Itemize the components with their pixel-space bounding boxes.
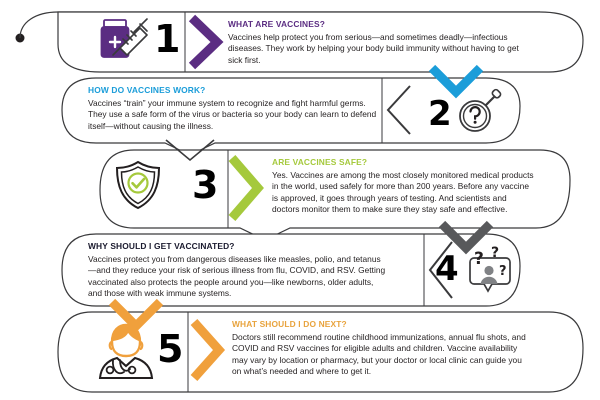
step-title-1: WHAT ARE VACCINES? bbox=[228, 19, 528, 30]
step-body-2: Vaccines “train” your immune system to r… bbox=[88, 98, 378, 133]
step-title-5: WHAT SHOULD I DO NEXT? bbox=[232, 319, 528, 330]
doctor-stethoscope-icon bbox=[96, 320, 156, 382]
step-body-3: Yes. Vaccines are among the most closely… bbox=[272, 170, 534, 216]
step-number-3: 3 bbox=[192, 166, 218, 204]
step-number-2: 2 bbox=[428, 95, 452, 133]
svg-text:?: ? bbox=[491, 246, 499, 261]
svg-text:?: ? bbox=[499, 264, 507, 279]
magnifying-glass-question-icon bbox=[455, 88, 507, 138]
chevron-right-step-1 bbox=[192, 18, 217, 66]
step-body-4: Vaccines protect you from dangerous dise… bbox=[88, 254, 388, 300]
shield-check-icon bbox=[112, 158, 164, 212]
step-number-4: 4 bbox=[435, 250, 459, 288]
step-number-1: 1 bbox=[154, 20, 180, 58]
vaccine-infographic: ? ? ? 1 2 3 4 5 WHAT ARE VACCINES? Vacci… bbox=[0, 0, 600, 400]
step-body-5: Doctors still recommend routine childhoo… bbox=[232, 332, 528, 378]
chevron-left-step-2 bbox=[388, 86, 410, 134]
step-content-1: WHAT ARE VACCINES? Vaccines help protect… bbox=[228, 19, 528, 66]
step-content-4: WHY SHOULD I GET VACCINATED? Vaccines pr… bbox=[88, 241, 388, 300]
vaccine-vial-syringe-icon bbox=[96, 16, 154, 68]
step-title-2: HOW DO VACCINES WORK? bbox=[88, 85, 378, 96]
step-number-5: 5 bbox=[157, 330, 183, 368]
person-question-bubble-icon: ? ? ? bbox=[462, 246, 518, 300]
step-content-2: HOW DO VACCINES WORK? Vaccines “train” y… bbox=[88, 85, 378, 132]
step-body-1: Vaccines help protect you from serious—a… bbox=[228, 32, 528, 67]
step-title-4: WHY SHOULD I GET VACCINATED? bbox=[88, 241, 388, 252]
chevron-right-step-5 bbox=[194, 322, 219, 378]
chevron-right-step-3 bbox=[232, 158, 258, 218]
chevron-down-step-3-outline bbox=[166, 140, 214, 160]
step-title-3: ARE VACCINES SAFE? bbox=[272, 157, 534, 168]
step-content-3: ARE VACCINES SAFE? Yes. Vaccines are amo… bbox=[272, 157, 534, 216]
svg-text:?: ? bbox=[474, 249, 484, 269]
step-content-5: WHAT SHOULD I DO NEXT? Doctors still rec… bbox=[232, 319, 528, 378]
